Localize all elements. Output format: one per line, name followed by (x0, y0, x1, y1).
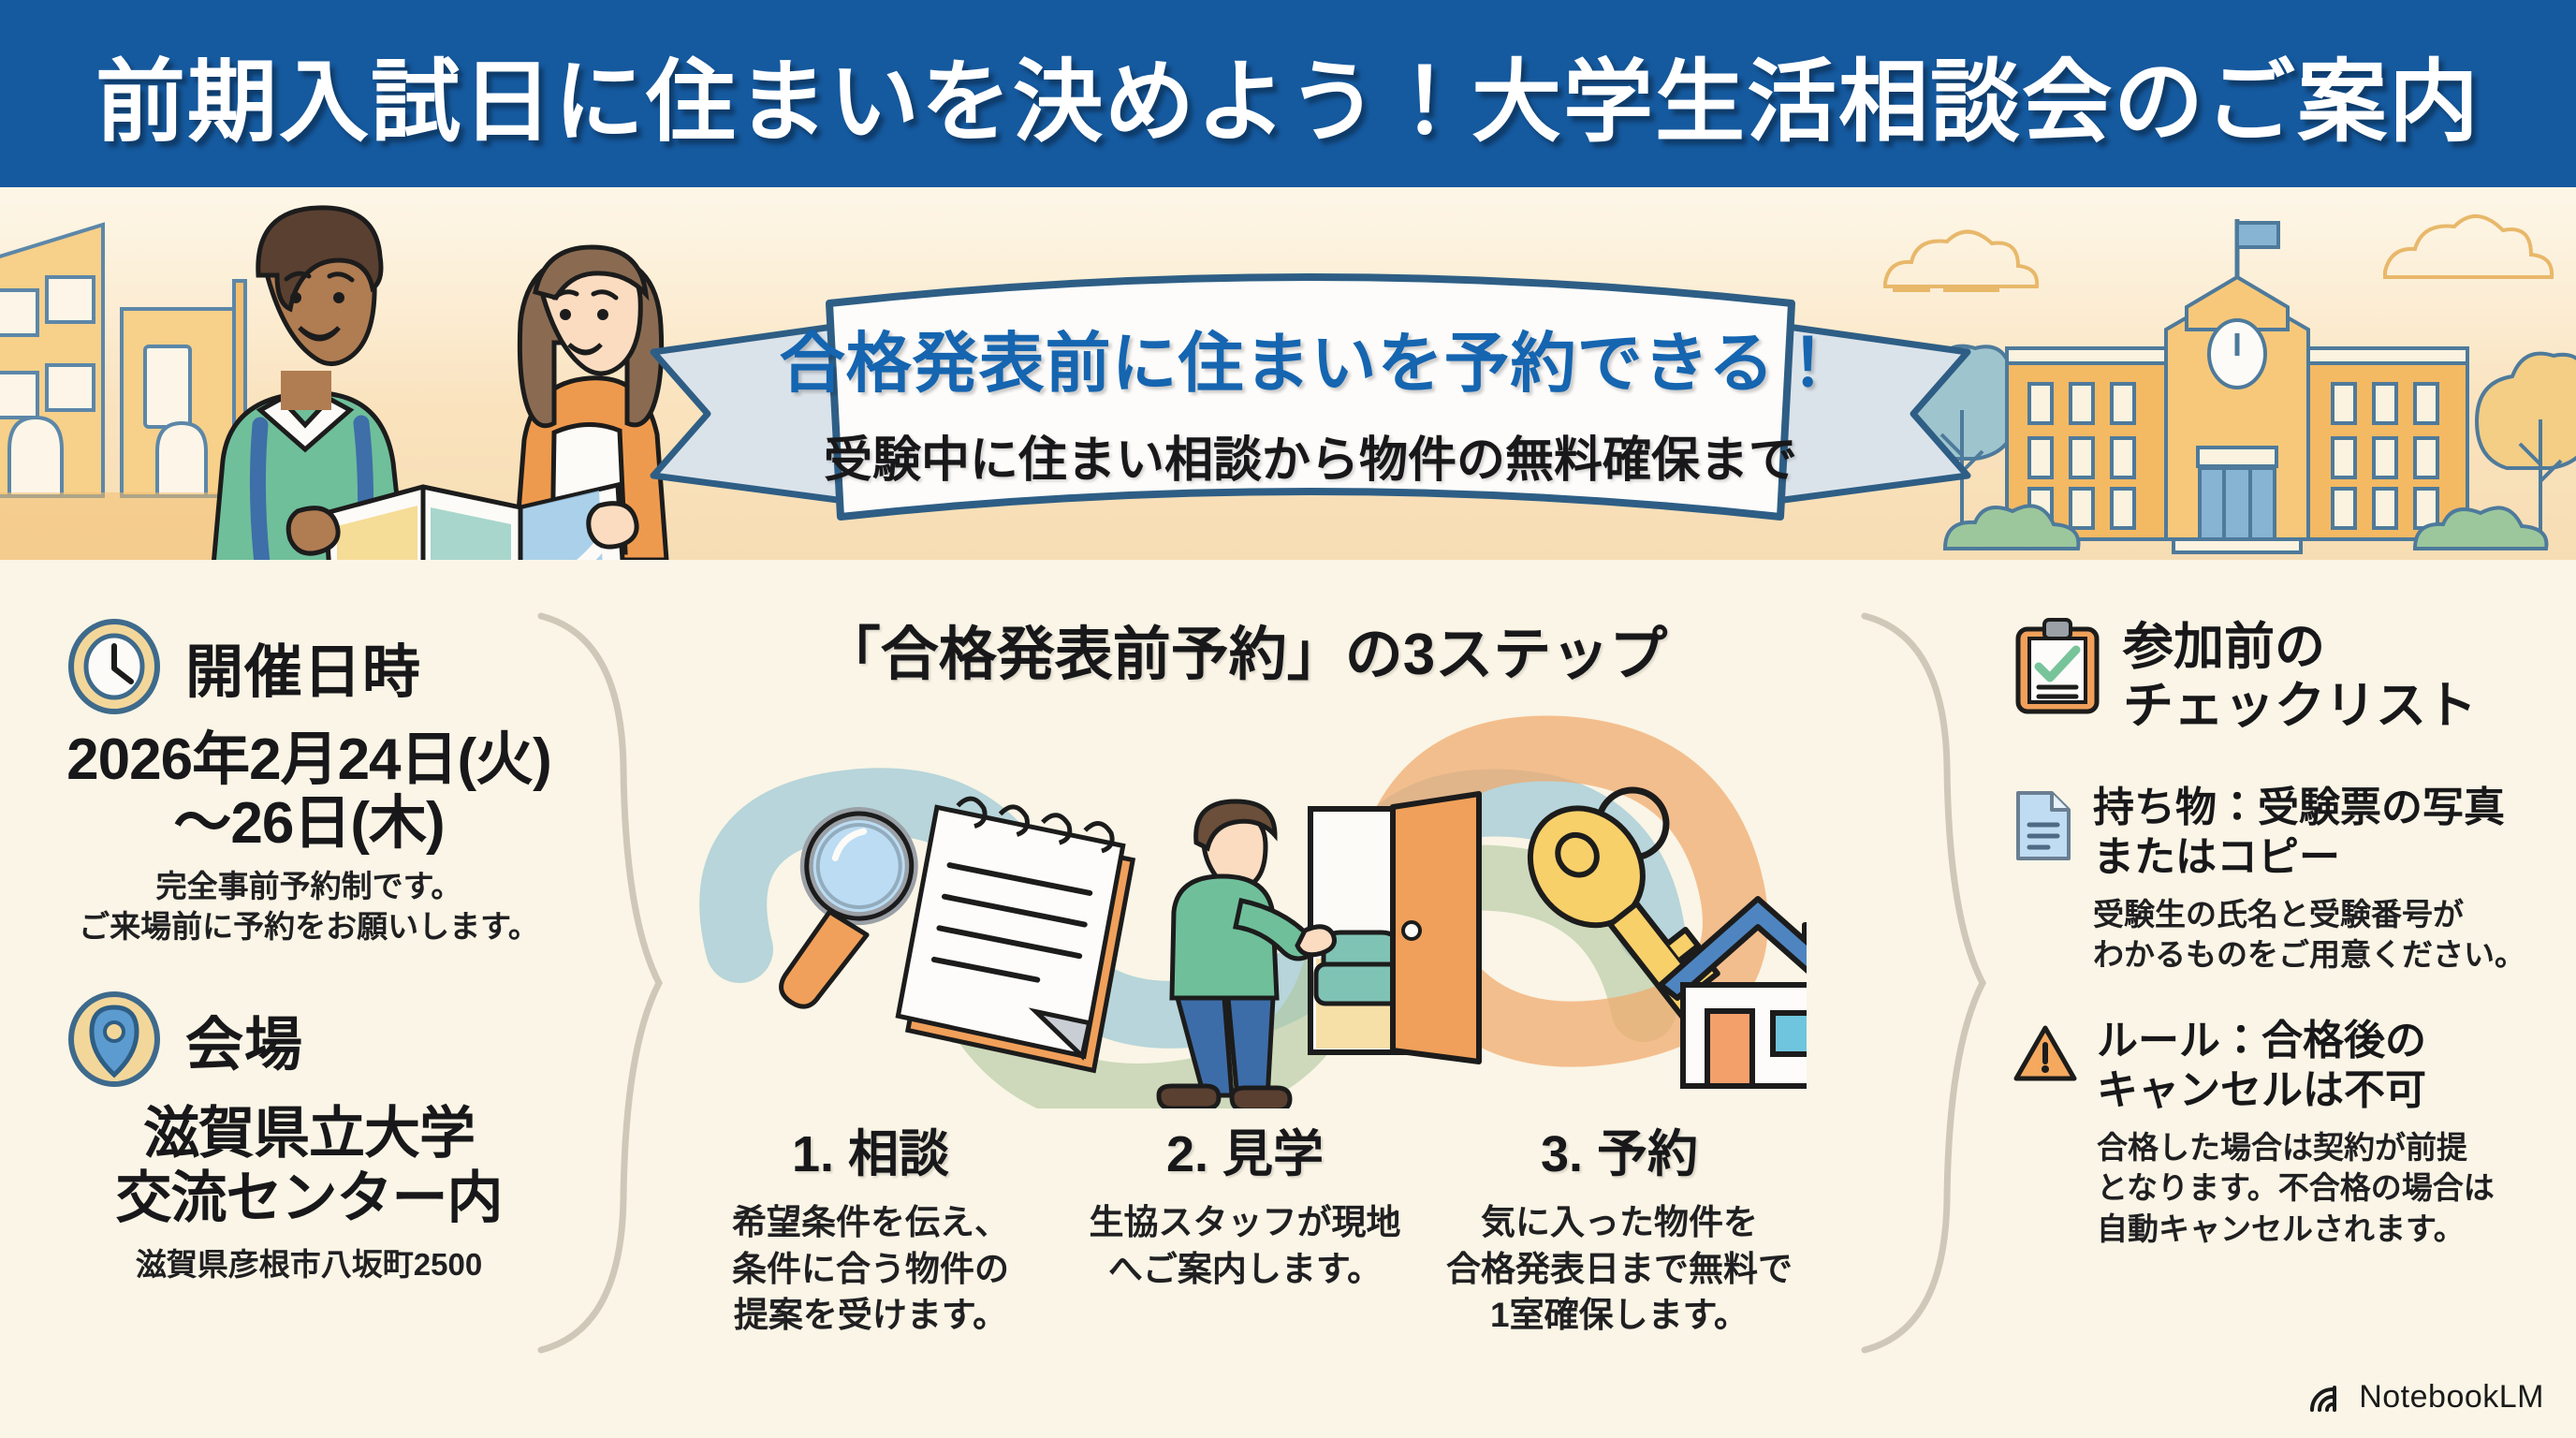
steps-column: 「合格発表前予約」の3ステップ (683, 607, 1807, 1339)
checklist-item-rule-body: ルール：合格後のキャンセルは不可 合格した場合は契約が前提となります。不合格の場… (2097, 1017, 2537, 1249)
step-item-2: 2. 見学 生協スタッフが現地へご案内します。 (1058, 1112, 1432, 1339)
watermark-label: NotebookLM (2359, 1379, 2544, 1416)
checklist-item-bring-desc: 受験生の氏名と受験番号がわかるものをご用意ください。 (2093, 894, 2537, 976)
checklist-heading-line-1: 参加前の (2123, 618, 2477, 677)
date-heading-row: 開催日時 (66, 618, 552, 715)
map-pin-icon (66, 990, 163, 1088)
venue-line-1: 滋賀県立大学 (66, 1101, 552, 1166)
notebooklm-logo-icon (2308, 1382, 2348, 1414)
checklist-heading-row: 参加前の チェックリスト (2012, 618, 2537, 735)
divider-brace-right (1855, 609, 1986, 1357)
steps-label-row: 1. 相談 希望条件を伝え、条件に合う物件の提案を受けます。 2. 見学 生協ス… (683, 1112, 1807, 1339)
step-3-title: 3. 予約 (1443, 1112, 1795, 1186)
date-heading: 開催日時 (185, 624, 421, 709)
highlight-ribbon-banner: 合格発表前に住まいを予約できる！ 受験中に住まい相談から物件の無料確保まで (646, 255, 1975, 536)
clock-icon (66, 618, 163, 715)
step-1-desc: 希望条件を伝え、条件に合う物件の提案を受けます。 (695, 1199, 1046, 1339)
venue-block: 会場 滋賀県立大学 交流センター内 滋賀県彦根市八坂町2500 (66, 990, 552, 1284)
checklist-item-bring: 持ち物：受験票の写真またはコピー 受験生の氏名と受験番号がわかるものをご用意くだ… (2012, 784, 2537, 976)
step-3-desc: 気に入った物件を合格発表日まで無料で1室確保します。 (1443, 1199, 1795, 1339)
checklist-item-rule-icon-wrap (2012, 1017, 2078, 1249)
date-block: 開催日時 2026年2月24日(火) 〜26日(木) 完全事前予約制です。 ご来… (66, 618, 552, 947)
warning-triangle-icon (2012, 1022, 2078, 1086)
header-banner: 前期入試日に住まいを決めよう！大学生活相談会のご案内 (0, 0, 2576, 187)
checklist-item-rule-desc: 合格した場合は契約が前提となります。不合格の場合は自動キャンセルされます。 (2097, 1127, 2537, 1250)
date-note-line-2: ご来場前に予約をお願いします。 (66, 907, 552, 947)
event-info-column: 開催日時 2026年2月24日(火) 〜26日(木) 完全事前予約制です。 ご来… (66, 618, 552, 1328)
steps-ribbon-flow (683, 706, 1807, 1108)
checklist-item-bring-icon-wrap (2012, 784, 2074, 976)
checklist-heading-line-2: チェックリスト (2123, 677, 2477, 736)
checklist-item-rule-title: ルール：合格後のキャンセルは不可 (2097, 1017, 2537, 1116)
date-note: 完全事前予約制です。 ご来場前に予約をお願いします。 (66, 867, 552, 947)
steps-title: 「合格発表前予約」の3ステップ (683, 607, 1807, 691)
notebooklm-watermark: NotebookLM (2308, 1379, 2544, 1416)
step-item-1: 1. 相談 希望条件を伝え、条件に合う物件の提案を受けます。 (683, 1112, 1058, 1339)
venue-line-2: 交流センター内 (66, 1166, 552, 1230)
checklist-column: 参加前の チェックリスト 持ち物：受験票の写真またはコピー 受 (2012, 618, 2537, 1290)
step-2-desc: 生協スタッフが現地へご案内します。 (1069, 1199, 1421, 1292)
clipboard-check-icon (2012, 618, 2102, 715)
document-icon (2012, 789, 2074, 862)
checklist-item-rule: ルール：合格後のキャンセルは不可 合格した場合は契約が前提となります。不合格の場… (2012, 1017, 2537, 1249)
venue-address: 滋賀県彦根市八坂町2500 (66, 1240, 552, 1284)
date-note-line-1: 完全事前予約制です。 (66, 867, 552, 907)
magnifier-and-notepad-icon (758, 794, 1137, 1073)
steps-illustrations (683, 706, 1807, 1108)
step-1-title: 1. 相談 (695, 1112, 1046, 1186)
ribbon-headline: 合格発表前に住まいを予約できる！ (780, 311, 1842, 405)
students-with-map-illustration (0, 187, 711, 560)
venue-heading-row: 会場 (66, 990, 552, 1088)
checklist-item-bring-title: 持ち物：受験票の写真またはコピー (2093, 784, 2537, 883)
checklist-item-bring-body: 持ち物：受験票の写真またはコピー 受験生の氏名と受験番号がわかるものをご用意くだ… (2093, 784, 2537, 976)
page-title: 前期入試日に住まいを決めよう！大学生活相談会のご案内 (95, 29, 2481, 159)
date-value: 2026年2月24日(火) 〜26日(木) (66, 728, 552, 856)
ribbon-subline: 受験中に住まい相談から物件の無料確保まで (824, 420, 1797, 491)
step-item-3: 3. 予約 気に入った物件を合格発表日まで無料で1室確保します。 (1432, 1112, 1807, 1339)
date-line-1: 2026年2月24日(火) (66, 728, 552, 792)
venue-value: 滋賀県立大学 交流センター内 (66, 1101, 552, 1230)
checklist-heading: 参加前の チェックリスト (2123, 618, 2477, 735)
poster-root: 前期入試日に住まいを決めよう！大学生活相談会のご案内 (0, 0, 2576, 1438)
venue-heading: 会場 (185, 997, 303, 1081)
step-2-title: 2. 見学 (1069, 1112, 1421, 1186)
date-line-2: 〜26日(木) (66, 792, 552, 856)
